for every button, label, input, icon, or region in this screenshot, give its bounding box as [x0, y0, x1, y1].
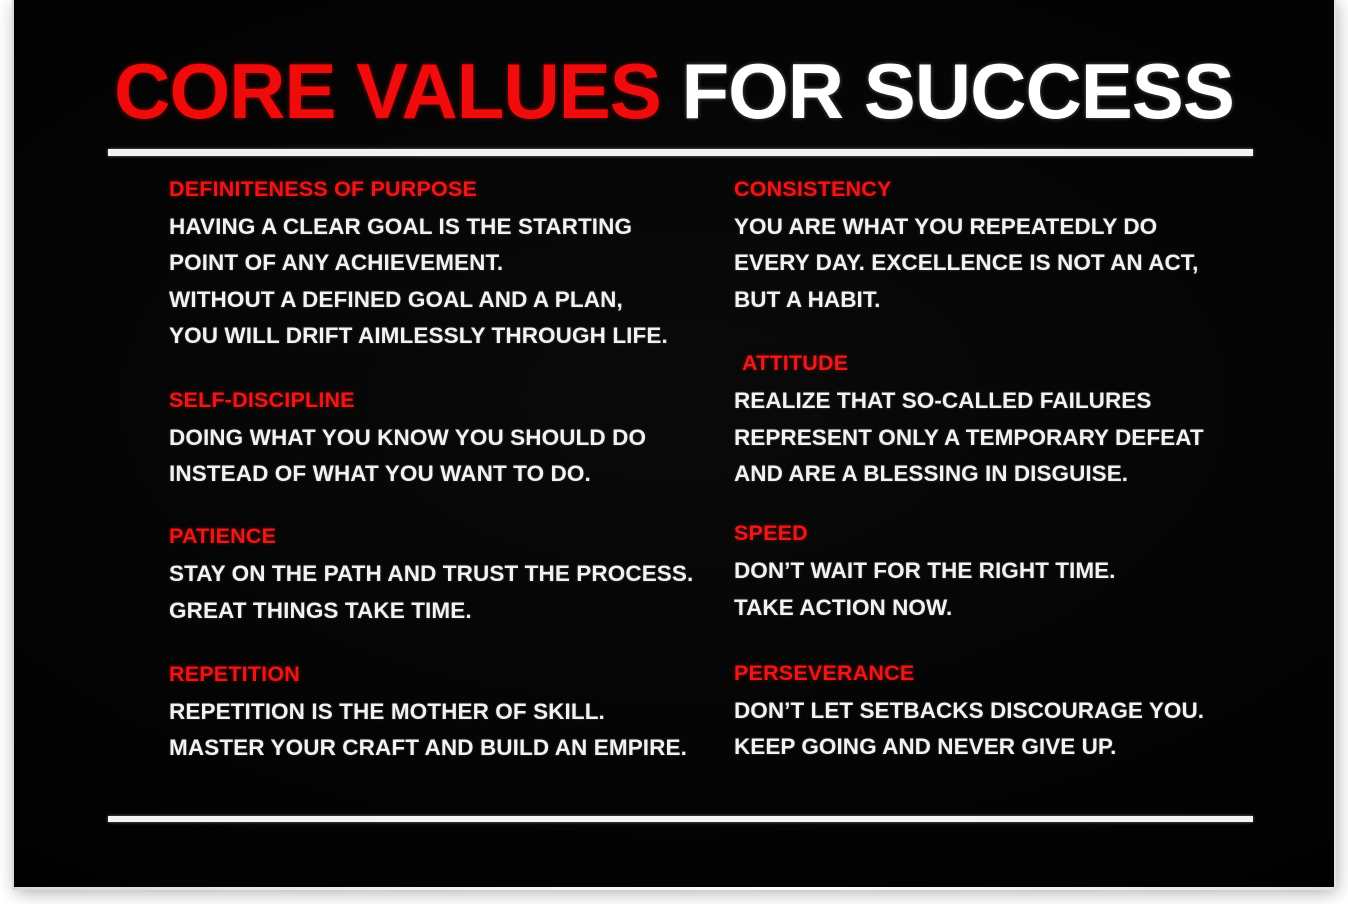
title-secondary: FOR SUCCESS — [681, 47, 1233, 135]
poster-title: CORE VALUES FOR SUCCESS — [14, 52, 1334, 130]
title-primary: CORE VALUES — [114, 47, 661, 135]
value-line: DON’T WAIT FOR THE RIGHT TIME. — [734, 553, 1254, 589]
value-line: GREAT THINGS TAKE TIME. — [169, 593, 709, 629]
value-line: INSTEAD OF WHAT YOU WANT TO DO. — [169, 456, 709, 492]
divider-bottom — [108, 816, 1253, 822]
value-line: STAY ON THE PATH AND TRUST THE PROCESS. — [169, 556, 709, 592]
values-column-left: DEFINITENESS OF PURPOSE HAVING A CLEAR G… — [169, 176, 709, 767]
value-line: REPETITION IS THE MOTHER OF SKILL. — [169, 694, 709, 730]
value-line: DON’T LET SETBACKS DISCOURAGE YOU. — [734, 693, 1254, 729]
value-heading: REPETITION — [169, 661, 709, 688]
value-line: DOING WHAT YOU KNOW YOU SHOULD DO — [169, 420, 709, 456]
value-line: REALIZE THAT SO-CALLED FAILURES — [734, 383, 1254, 419]
value-block-patience: PATIENCE STAY ON THE PATH AND TRUST THE … — [169, 523, 709, 629]
value-line: TAKE ACTION NOW. — [734, 590, 1254, 626]
value-line: YOU ARE WHAT YOU REPEATEDLY DO — [734, 209, 1254, 245]
value-line: HAVING A CLEAR GOAL IS THE STARTING — [169, 209, 709, 245]
value-line: REPRESENT ONLY A TEMPORARY DEFEAT — [734, 420, 1254, 456]
value-line: AND ARE A BLESSING IN DISGUISE. — [734, 456, 1254, 492]
value-line: POINT OF ANY ACHIEVEMENT. — [169, 245, 709, 281]
value-block-self-discipline: SELF-DISCIPLINE DOING WHAT YOU KNOW YOU … — [169, 387, 709, 493]
poster-frame: CORE VALUES FOR SUCCESS DEFINITENESS OF … — [0, 0, 1348, 904]
poster-panel: CORE VALUES FOR SUCCESS DEFINITENESS OF … — [14, 0, 1334, 887]
value-heading: PATIENCE — [169, 523, 709, 550]
value-block-repetition: REPETITION REPETITION IS THE MOTHER OF S… — [169, 661, 709, 767]
value-heading: DEFINITENESS OF PURPOSE — [169, 176, 709, 203]
value-line: KEEP GOING AND NEVER GIVE UP. — [734, 729, 1254, 765]
value-line: WITHOUT A DEFINED GOAL AND A PLAN, — [169, 282, 709, 318]
divider-top — [108, 149, 1253, 156]
value-heading: CONSISTENCY — [734, 176, 1254, 203]
values-columns: DEFINITENESS OF PURPOSE HAVING A CLEAR G… — [14, 176, 1334, 796]
value-block-perseverance: PERSEVERANCE DON’T LET SETBACKS DISCOURA… — [734, 660, 1254, 766]
value-block-definiteness-of-purpose: DEFINITENESS OF PURPOSE HAVING A CLEAR G… — [169, 176, 709, 355]
value-block-attitude: ATTITUDE REALIZE THAT SO-CALLED FAILURES… — [734, 350, 1254, 492]
value-line: EVERY DAY. EXCELLENCE IS NOT AN ACT, — [734, 245, 1254, 281]
value-line: BUT A HABIT. — [734, 282, 1254, 318]
value-heading: SPEED — [734, 520, 1254, 547]
value-block-consistency: CONSISTENCY YOU ARE WHAT YOU REPEATEDLY … — [734, 176, 1254, 318]
value-heading: PERSEVERANCE — [734, 660, 1254, 687]
value-line: MASTER YOUR CRAFT AND BUILD AN EMPIRE. — [169, 730, 709, 766]
title-space — [661, 47, 682, 135]
value-line: YOU WILL DRIFT AIMLESSLY THROUGH LIFE. — [169, 318, 709, 354]
value-heading: ATTITUDE — [734, 350, 1254, 377]
value-block-speed: SPEED DON’T WAIT FOR THE RIGHT TIME. TAK… — [734, 520, 1254, 626]
value-heading: SELF-DISCIPLINE — [169, 387, 709, 414]
values-column-right: CONSISTENCY YOU ARE WHAT YOU REPEATEDLY … — [734, 176, 1254, 766]
